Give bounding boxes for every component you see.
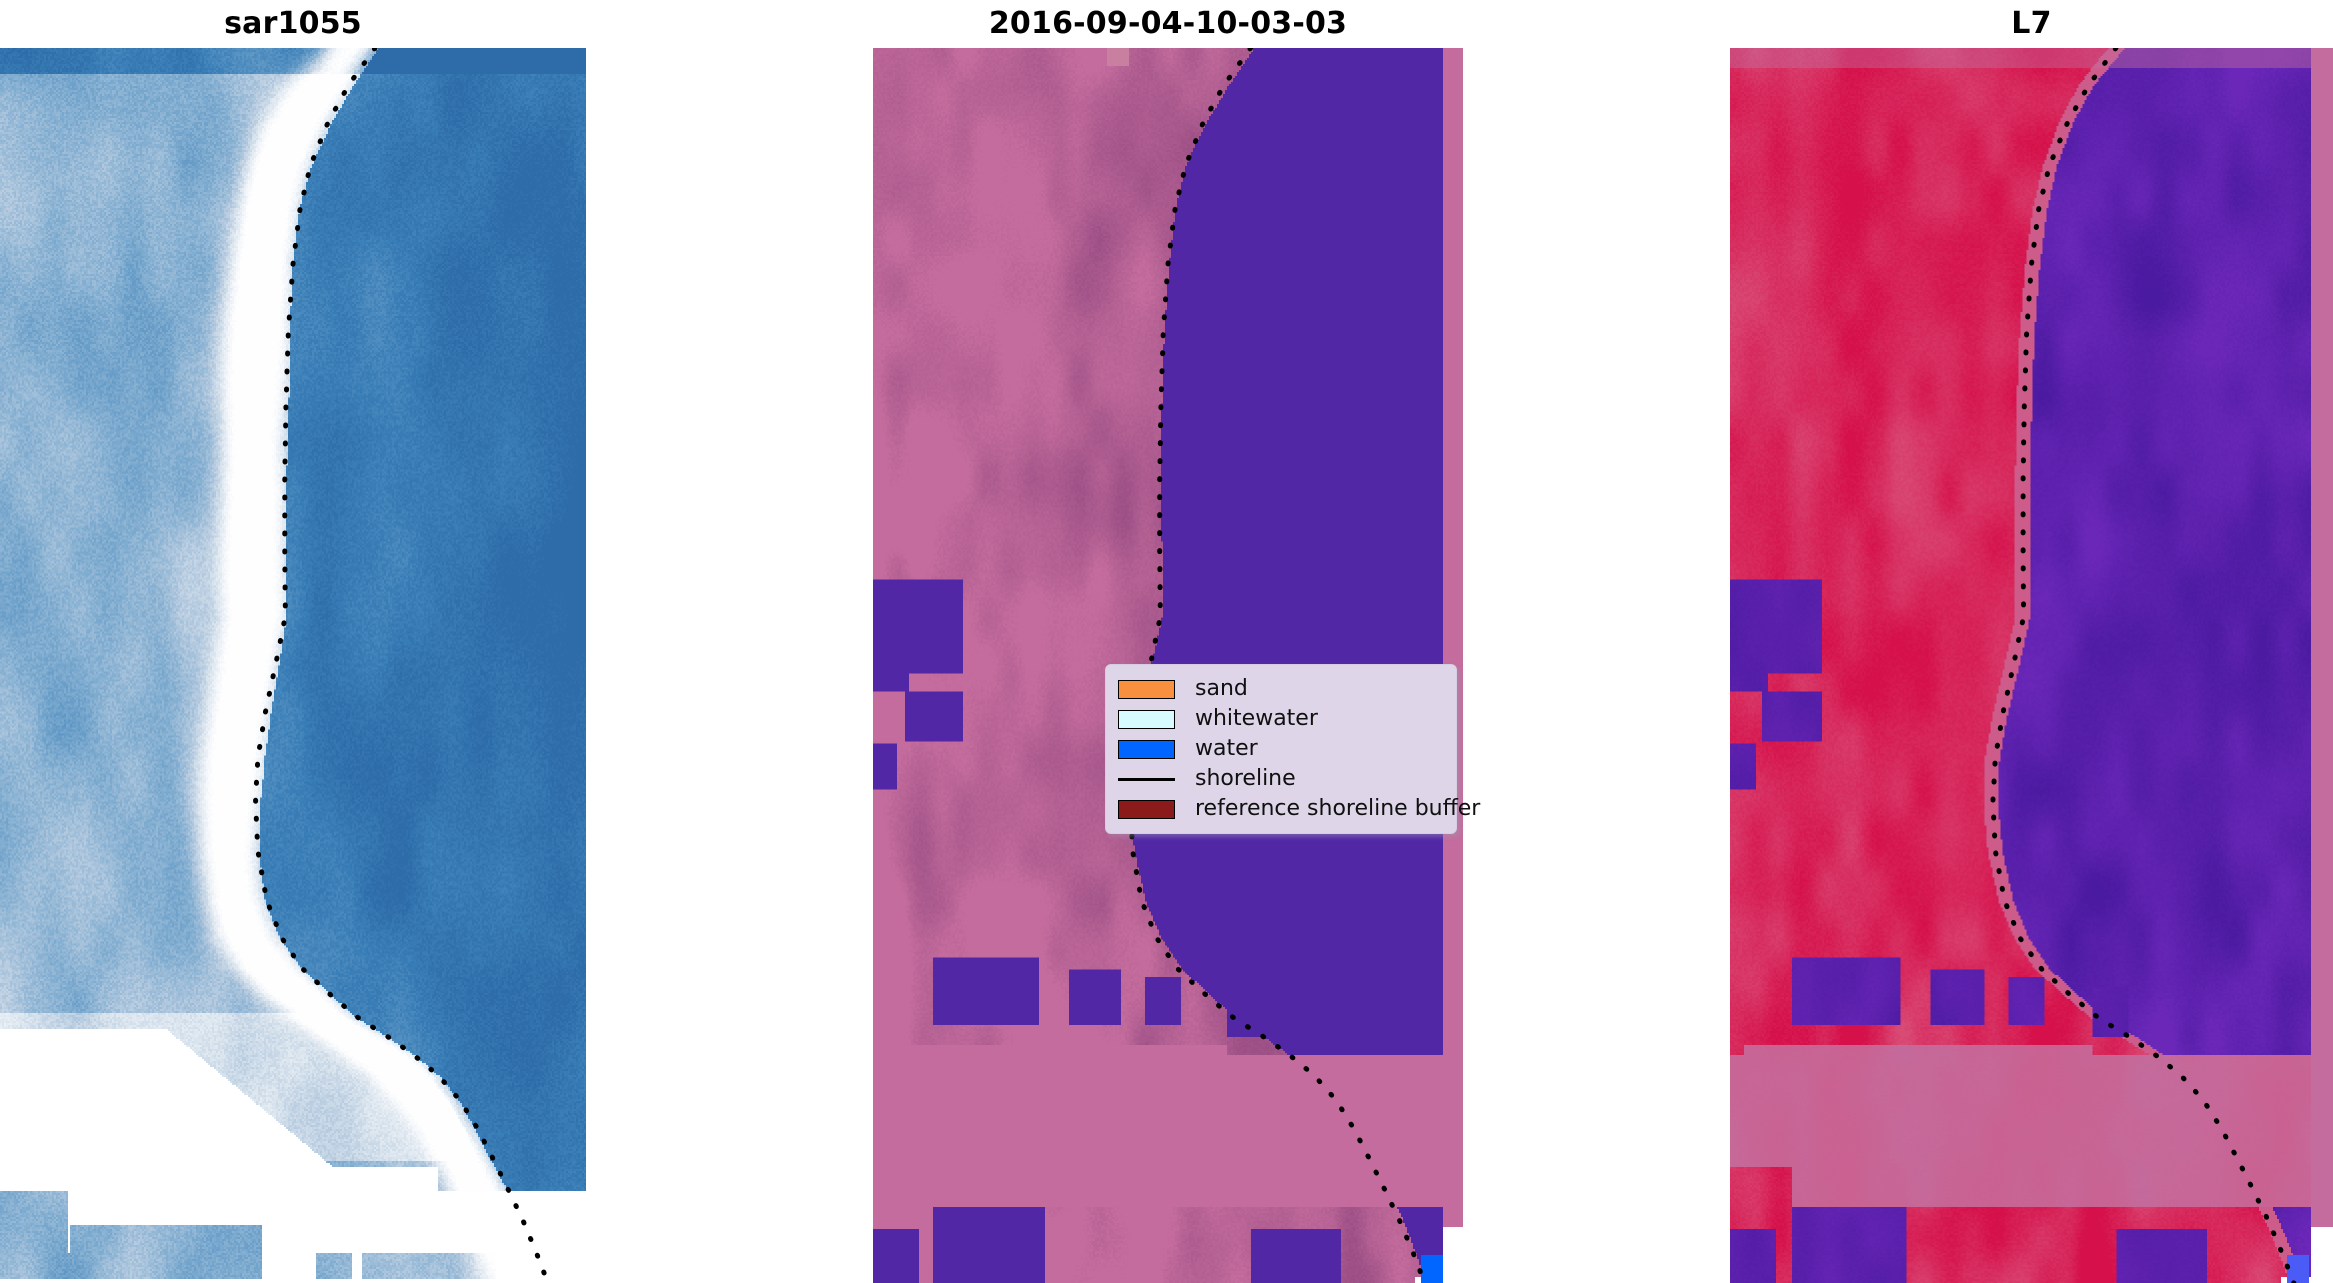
legend-row-water: water — [1118, 734, 1446, 764]
legend-swatch-water-icon — [1118, 740, 1175, 759]
legend-swatch-shoreline-icon — [1118, 770, 1175, 789]
legend-swatch-reference-shoreline-buffer-icon — [1118, 800, 1175, 819]
l7-raster — [1730, 48, 2333, 1283]
panel-title-l7: L7 — [1730, 0, 2333, 48]
panel-sar1055 — [0, 48, 586, 1283]
panel-title-classification: 2016-09-04-10-03-03 — [873, 0, 1463, 48]
legend: sandwhitewaterwatershorelinereference sh… — [1105, 664, 1457, 834]
panel-title-sar1055: sar1055 — [0, 0, 586, 48]
figure-canvas: sar1055 2016-09-04-10-03-03 L7 sandwhite… — [0, 0, 2333, 1283]
legend-label: sand — [1195, 678, 1248, 700]
legend-row-shoreline: shoreline — [1118, 764, 1446, 794]
legend-label: reference shoreline buffer — [1195, 798, 1480, 820]
legend-label: whitewater — [1195, 708, 1318, 730]
legend-label: water — [1195, 738, 1258, 760]
legend-row-whitewater: whitewater — [1118, 704, 1446, 734]
sar-raster — [0, 48, 586, 1283]
legend-row-reference-shoreline-buffer: reference shoreline buffer — [1118, 794, 1446, 824]
legend-swatch-sand-icon — [1118, 680, 1175, 699]
legend-label: shoreline — [1195, 768, 1296, 790]
panel-l7 — [1730, 48, 2333, 1283]
legend-swatch-whitewater-icon — [1118, 710, 1175, 729]
legend-row-sand: sand — [1118, 674, 1446, 704]
